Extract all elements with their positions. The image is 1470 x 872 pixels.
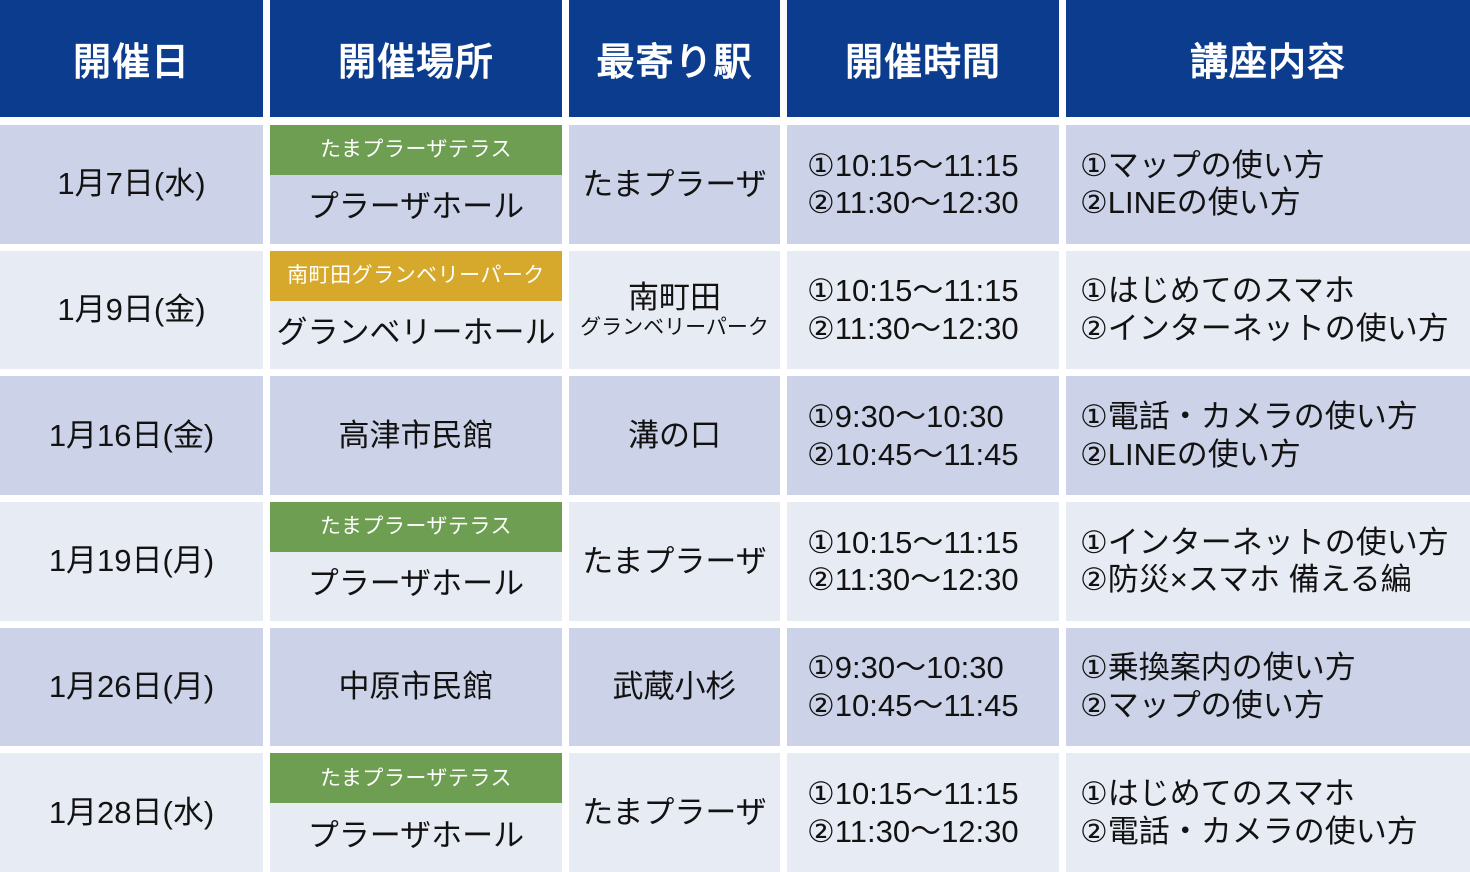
course-session-2: ②インターネットの使い方 [1080, 310, 1449, 348]
venue-name: プラーザホール [270, 552, 562, 621]
time-session-1: ①9:30～10:30 [807, 398, 1004, 436]
cell-time: ①10:15～11:15②11:30～12:30 [787, 753, 1059, 872]
time-session-2: ②11:30～12:30 [807, 184, 1019, 222]
cell-time: ①9:30～10:30②10:45～11:45 [787, 628, 1059, 747]
cell-date: 1月26日(月) [0, 628, 263, 747]
venue-badge: たまプラーザテラス [270, 753, 562, 803]
course-session-2: ②マップの使い方 [1080, 687, 1325, 725]
time-session-2: ②11:30～12:30 [807, 310, 1019, 348]
table-row: 1月9日(金)南町田グランベリーパークグランベリーホール南町田グランベリーパーク… [0, 251, 1470, 370]
cell-station: 南町田グランベリーパーク [569, 251, 780, 370]
time-session-1: ①10:15～11:15 [807, 272, 1019, 310]
time-session-2: ②11:30～12:30 [807, 813, 1019, 851]
venue-badge: たまプラーザテラス [270, 502, 562, 552]
station-name-sub: グランベリーパーク [580, 315, 769, 340]
cell-course: ①電話・カメラの使い方②LINEの使い方 [1066, 376, 1470, 495]
cell-station: 武蔵小杉 [569, 628, 780, 747]
venue-name: グランベリーホール [270, 301, 562, 370]
venue-name: 高津市民館 [270, 417, 562, 455]
schedule-table: 開催日 開催場所 最寄り駅 開催時間 講座内容 1月7日(水)たまプラーザテラス… [0, 0, 1470, 872]
time-session-2: ②10:45～11:45 [807, 687, 1019, 725]
cell-station: たまプラーザ [569, 753, 780, 872]
table-row: 1月26日(月)中原市民館武蔵小杉①9:30～10:30②10:45～11:45… [0, 628, 1470, 747]
cell-date: 1月16日(金) [0, 376, 263, 495]
course-session-2: ②防災×スマホ 備える編 [1080, 561, 1412, 599]
cell-time: ①10:15～11:15②11:30～12:30 [787, 502, 1059, 621]
course-session-1: ①インターネットの使い方 [1080, 524, 1449, 562]
venue-name: 中原市民館 [270, 668, 562, 706]
cell-date: 1月7日(水) [0, 125, 263, 244]
course-session-2: ②LINEの使い方 [1080, 436, 1301, 474]
cell-venue: 高津市民館 [270, 376, 562, 495]
station-name: 南町田 [628, 280, 721, 316]
table-header-row: 開催日 開催場所 最寄り駅 開催時間 講座内容 [0, 0, 1470, 117]
cell-venue: たまプラーザテラスプラーザホール [270, 125, 562, 244]
course-session-1: ①はじめてのスマホ [1080, 775, 1355, 813]
course-session-1: ①マップの使い方 [1080, 147, 1325, 185]
column-header-venue: 開催場所 [270, 0, 562, 117]
cell-course: ①マップの使い方②LINEの使い方 [1066, 125, 1470, 244]
venue-name: プラーザホール [270, 175, 562, 244]
station-name: 武蔵小杉 [613, 669, 737, 705]
station-name: 溝の口 [628, 418, 721, 454]
time-session-1: ①10:15～11:15 [807, 775, 1019, 813]
cell-station: たまプラーザ [569, 125, 780, 244]
cell-course: ①はじめてのスマホ②電話・カメラの使い方 [1066, 753, 1470, 872]
cell-venue: 中原市民館 [270, 628, 562, 747]
station-name: たまプラーザ [582, 795, 766, 831]
cell-venue: 南町田グランベリーパークグランベリーホール [270, 251, 562, 370]
venue-badge: 南町田グランベリーパーク [270, 251, 562, 301]
table-row: 1月19日(月)たまプラーザテラスプラーザホールたまプラーザ①10:15～11:… [0, 502, 1470, 621]
table-row: 1月16日(金)高津市民館溝の口①9:30～10:30②10:45～11:45①… [0, 376, 1470, 495]
time-session-1: ①9:30～10:30 [807, 649, 1004, 687]
cell-venue: たまプラーザテラスプラーザホール [270, 753, 562, 872]
course-session-1: ①乗換案内の使い方 [1080, 649, 1356, 687]
cell-date: 1月28日(水) [0, 753, 263, 872]
cell-time: ①10:15～11:15②11:30～12:30 [787, 251, 1059, 370]
table-body: 1月7日(水)たまプラーザテラスプラーザホールたまプラーザ①10:15～11:1… [0, 117, 1470, 872]
course-session-1: ①電話・カメラの使い方 [1080, 398, 1418, 436]
station-name: たまプラーザ [582, 544, 766, 580]
column-header-course: 講座内容 [1066, 0, 1470, 117]
venue-badge: たまプラーザテラス [270, 125, 562, 175]
cell-station: 溝の口 [569, 376, 780, 495]
table-row: 1月28日(水)たまプラーザテラスプラーザホールたまプラーザ①10:15～11:… [0, 753, 1470, 872]
time-session-1: ①10:15～11:15 [807, 524, 1019, 562]
column-header-station: 最寄り駅 [569, 0, 780, 117]
column-header-time: 開催時間 [787, 0, 1059, 117]
station-name: たまプラーザ [582, 167, 766, 203]
cell-time: ①10:15～11:15②11:30～12:30 [787, 125, 1059, 244]
cell-course: ①乗換案内の使い方②マップの使い方 [1066, 628, 1470, 747]
table-row: 1月7日(水)たまプラーザテラスプラーザホールたまプラーザ①10:15～11:1… [0, 125, 1470, 244]
cell-time: ①9:30～10:30②10:45～11:45 [787, 376, 1059, 495]
course-session-2: ②電話・カメラの使い方 [1080, 813, 1418, 851]
cell-date: 1月19日(月) [0, 502, 263, 621]
time-session-2: ②11:30～12:30 [807, 561, 1019, 599]
cell-course: ①はじめてのスマホ②インターネットの使い方 [1066, 251, 1470, 370]
course-session-1: ①はじめてのスマホ [1080, 272, 1355, 310]
time-session-2: ②10:45～11:45 [807, 436, 1019, 474]
venue-name: プラーザホール [270, 803, 562, 872]
cell-course: ①インターネットの使い方②防災×スマホ 備える編 [1066, 502, 1470, 621]
cell-venue: たまプラーザテラスプラーザホール [270, 502, 562, 621]
cell-date: 1月9日(金) [0, 251, 263, 370]
course-session-2: ②LINEの使い方 [1080, 184, 1301, 222]
cell-station: たまプラーザ [569, 502, 780, 621]
column-header-date: 開催日 [0, 0, 263, 117]
time-session-1: ①10:15～11:15 [807, 147, 1019, 185]
